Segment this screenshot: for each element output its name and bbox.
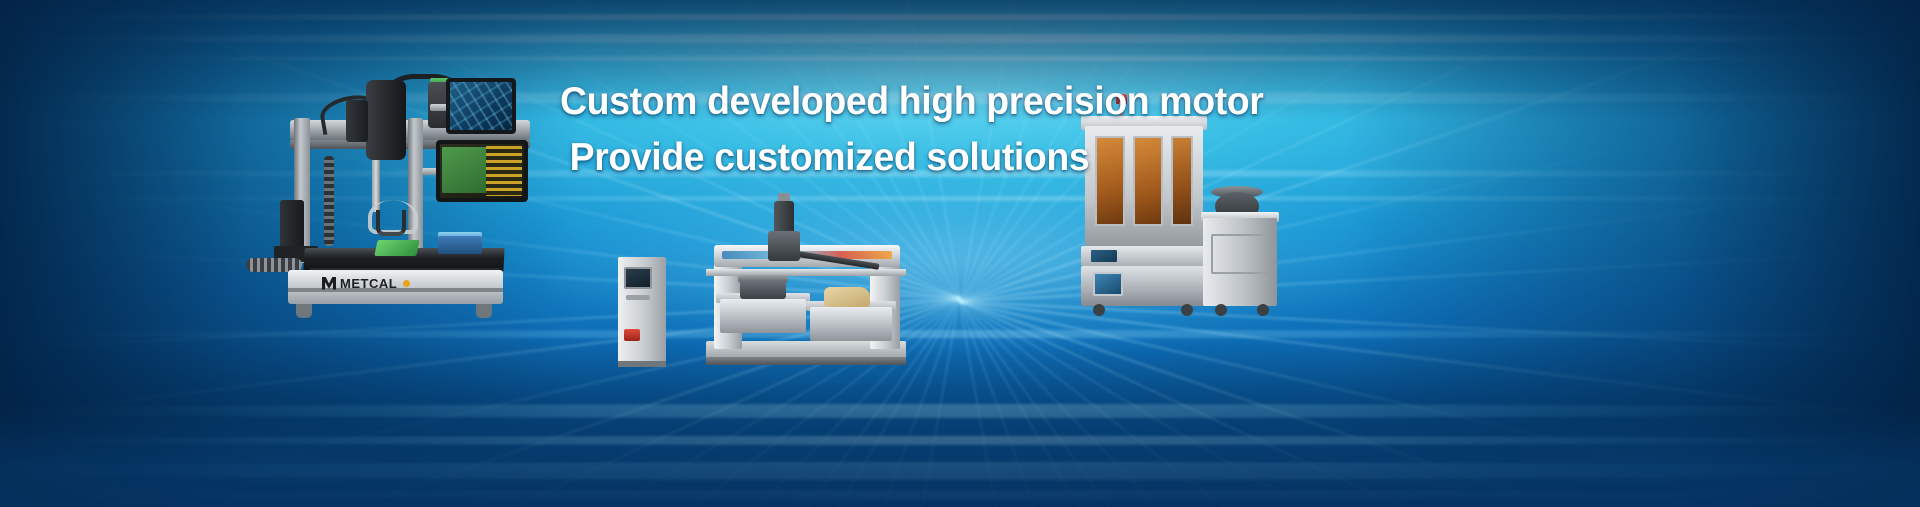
work-table-left bbox=[720, 299, 806, 333]
rotary-fixture bbox=[740, 281, 786, 299]
brand-wordmark: METCAL bbox=[340, 276, 397, 291]
headline-line-1: Custom developed high precision motor bbox=[560, 74, 1263, 130]
side-caster-left bbox=[1215, 304, 1227, 316]
base-foot-right bbox=[476, 304, 492, 318]
spindle-head bbox=[768, 231, 800, 261]
work-table-right bbox=[810, 307, 892, 341]
spring-cable-wrap bbox=[324, 156, 334, 246]
headline-line-2: Provide customized solutions bbox=[560, 130, 1263, 186]
caster-wheel-left bbox=[1093, 304, 1105, 316]
side-control-box bbox=[280, 200, 304, 252]
metcal-brand-logo: METCAL bbox=[322, 274, 452, 292]
cabinet-display bbox=[624, 267, 652, 289]
linear-rail bbox=[706, 269, 906, 276]
monitor-bezel bbox=[446, 78, 516, 134]
cabinet-button-row bbox=[626, 295, 650, 300]
headline-block: Custom developed high precision motor Pr… bbox=[560, 74, 1293, 186]
cell-brand-logo bbox=[1133, 278, 1193, 288]
promo-banner: Custom developed high precision motor Pr… bbox=[0, 0, 1920, 507]
pcb-gold-traces bbox=[486, 146, 522, 196]
monitor-bottom bbox=[436, 140, 528, 202]
monitor-screen-pcb-view bbox=[440, 144, 524, 198]
green-pcb-sample bbox=[374, 240, 419, 256]
side-caster-right bbox=[1257, 304, 1269, 316]
hmi-touchscreen[interactable] bbox=[1093, 272, 1123, 296]
base-foot-left bbox=[296, 304, 312, 318]
monitor-top bbox=[446, 78, 516, 134]
machine-gantry-cnc-dispenser bbox=[610, 195, 920, 365]
workpiece bbox=[824, 287, 870, 307]
gantry-column-right bbox=[408, 118, 423, 258]
cabinet-logo bbox=[622, 307, 662, 317]
dispensing-head bbox=[366, 80, 406, 160]
monitor-bezel bbox=[436, 140, 528, 202]
brand-dot-icon bbox=[403, 280, 410, 287]
pcb-green-region bbox=[442, 147, 488, 193]
cabinet-foot bbox=[618, 361, 666, 367]
metcal-m-icon bbox=[322, 277, 336, 290]
side-cabinet-door[interactable] bbox=[1211, 234, 1269, 274]
nozzle-tip bbox=[376, 210, 406, 236]
monitor-screen-circuit-image bbox=[450, 82, 512, 130]
blue-fixture bbox=[438, 236, 482, 254]
machine-bed-edge bbox=[706, 357, 906, 365]
dispensing-head-side bbox=[346, 100, 368, 142]
emergency-stop-button bbox=[624, 329, 640, 341]
caster-wheel-right bbox=[1181, 304, 1193, 316]
mid-indicator-panel bbox=[1091, 250, 1117, 262]
